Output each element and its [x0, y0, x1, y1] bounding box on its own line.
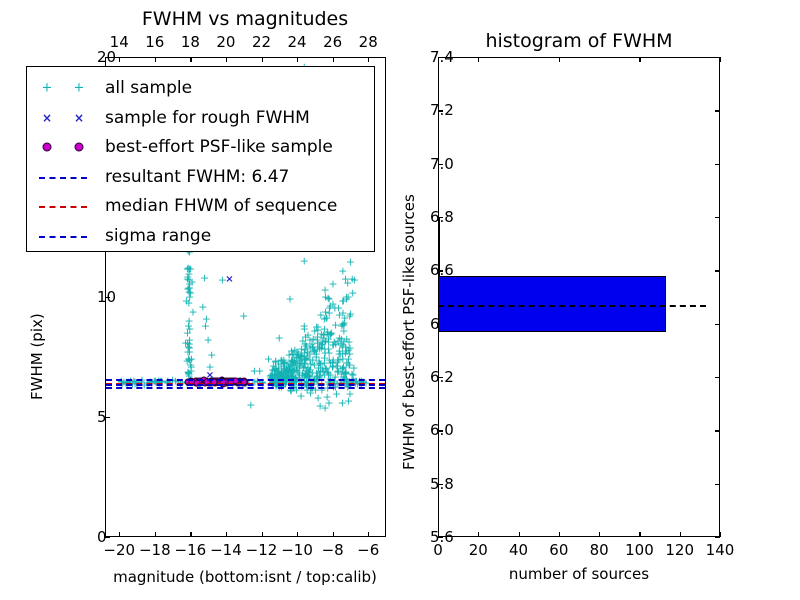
legend-row: best-effort PSF-like sample: [27, 132, 374, 162]
scatter-point-all-sample: +: [323, 327, 332, 338]
scatter-point-all-sample: +: [186, 264, 195, 275]
legend-line-icon: [39, 236, 87, 238]
scatter-point-all-sample: +: [185, 347, 194, 358]
x-bottom-tick-label: −8: [322, 541, 344, 559]
scatter-point-all-sample: +: [324, 397, 333, 408]
scatter-point-all-sample: +: [201, 320, 210, 331]
x-bottom-tick-label: −20: [103, 541, 135, 559]
legend-row: median FHWM of sequence: [27, 191, 374, 221]
scatter-point-all-sample: +: [325, 302, 334, 313]
scatter-point-all-sample: +: [246, 400, 255, 411]
x-top-tick-label: 18: [181, 33, 200, 51]
right-yaxis-label: FWHM of best-effort PSF-like sources: [400, 194, 418, 470]
scatter-point-all-sample: +: [207, 349, 216, 360]
scatter-point-all-sample: +: [204, 335, 213, 346]
legend-marker-circle-icon: [43, 143, 52, 152]
histogram-bar: [438, 276, 666, 332]
scatter-point-all-sample: +: [264, 354, 273, 365]
legend-marker-plus-icon: +: [74, 82, 85, 95]
scatter-point-all-sample: +: [198, 301, 207, 312]
histogram-median-line: [438, 305, 706, 307]
hist-x-tick-label: 20: [469, 541, 488, 559]
x-top-tick-label: 24: [288, 33, 307, 51]
x-bottom-tick-label: −10: [281, 541, 313, 559]
x-bottom-tick-label: −18: [139, 541, 171, 559]
right-panel-title: histogram of FWHM: [485, 30, 672, 52]
sigma-range-line-upper: [106, 379, 385, 381]
scatter-point-all-sample: +: [345, 389, 354, 400]
legend-row: sigma range: [27, 221, 374, 251]
scatter-point-all-sample: +: [338, 265, 347, 276]
resultant-fwhm-line: [106, 384, 385, 386]
scatter-point-all-sample: +: [344, 337, 353, 348]
left-xaxis-label: magnitude (bottom:isnt / top:calib): [113, 568, 377, 586]
scatter-point-all-sample: +: [185, 283, 194, 294]
scatter-point-all-sample: +: [300, 256, 309, 267]
left-yaxis-label: FWHM (pix): [28, 313, 46, 400]
figure-canvas: FWHM vs magnitudes 1416182022242628 −20−…: [0, 0, 800, 600]
legend-entry-label: all sample: [105, 78, 192, 98]
hist-x-tick-label: 140: [706, 541, 735, 559]
hist-x-tick: [720, 532, 721, 537]
x-bottom-tick-label: −6: [357, 541, 379, 559]
hist-x-tick-label: 60: [549, 541, 568, 559]
scatter-point-all-sample: +: [328, 357, 337, 368]
hist-y-tick-right: [715, 537, 720, 538]
x-bottom-tick-label: −14: [210, 541, 242, 559]
scatter-point-all-sample: +: [300, 338, 309, 349]
scatter-point-all-sample: +: [350, 274, 359, 285]
legend-row: ++all sample: [27, 73, 374, 103]
histogram-bars-layer: [438, 57, 720, 537]
legend-marker-circle-icon: [75, 143, 84, 152]
x-top-tick-label: 22: [252, 33, 271, 51]
scatter-point-all-sample: +: [328, 278, 337, 289]
hist-x-tick-label: 100: [625, 541, 654, 559]
scatter-point-all-sample: +: [280, 357, 289, 368]
legend-line-icon: [39, 177, 87, 179]
legend-marker-cross-icon: ×: [42, 112, 52, 124]
right-xaxis-label: number of sources: [509, 565, 649, 583]
legend-line-icon: [39, 206, 87, 208]
scatter-point-all-sample: +: [200, 272, 209, 283]
hist-x-top-tick: [720, 57, 721, 62]
x-top-tick-label: 26: [323, 33, 342, 51]
scatter-point-all-sample: +: [239, 311, 248, 322]
hist-x-tick-label: 40: [509, 541, 528, 559]
sigma-range-line-lower: [106, 387, 385, 389]
legend-marker-cross-icon: ×: [74, 112, 84, 124]
scatter-point-rough-fwhm: ×: [225, 275, 233, 285]
left-panel-title: FWHM vs magnitudes: [142, 8, 348, 30]
scatter-point-all-sample: +: [300, 355, 309, 366]
x-top-tick-label: 28: [359, 33, 378, 51]
legend-row: ××sample for rough FWHM: [27, 103, 374, 133]
x-top-tick-label: 20: [216, 33, 235, 51]
histogram-bar: [438, 217, 440, 276]
legend-marker-plus-icon: +: [42, 82, 53, 95]
x-top-tick-label: 16: [145, 33, 164, 51]
legend-entry-label: median FHWM of sequence: [105, 196, 337, 216]
scatter-point-all-sample: +: [285, 294, 294, 305]
legend-entry-label: sigma range: [105, 226, 211, 246]
scatter-point-all-sample: +: [340, 312, 349, 323]
hist-x-tick-label: 80: [590, 541, 609, 559]
x-bottom-tick-label: −12: [246, 541, 278, 559]
legend-entry-label: sample for rough FWHM: [105, 108, 310, 128]
scatter-point-all-sample: +: [255, 366, 264, 377]
legend-entry-label: best-effort PSF-like sample: [105, 137, 333, 157]
scatter-point-all-sample: +: [315, 401, 324, 412]
legend-row: resultant FWHM: 6.47: [27, 162, 374, 192]
legend-box: ++all sample××sample for rough FWHMbest-…: [26, 66, 375, 252]
scatter-point-all-sample: +: [348, 288, 357, 299]
scatter-point-all-sample: +: [184, 320, 193, 331]
hist-x-tick-label: 120: [665, 541, 694, 559]
legend-entry-label: resultant FWHM: 6.47: [105, 167, 289, 187]
x-bottom-tick-label: −16: [175, 541, 207, 559]
scatter-point-all-sample: +: [275, 332, 284, 343]
